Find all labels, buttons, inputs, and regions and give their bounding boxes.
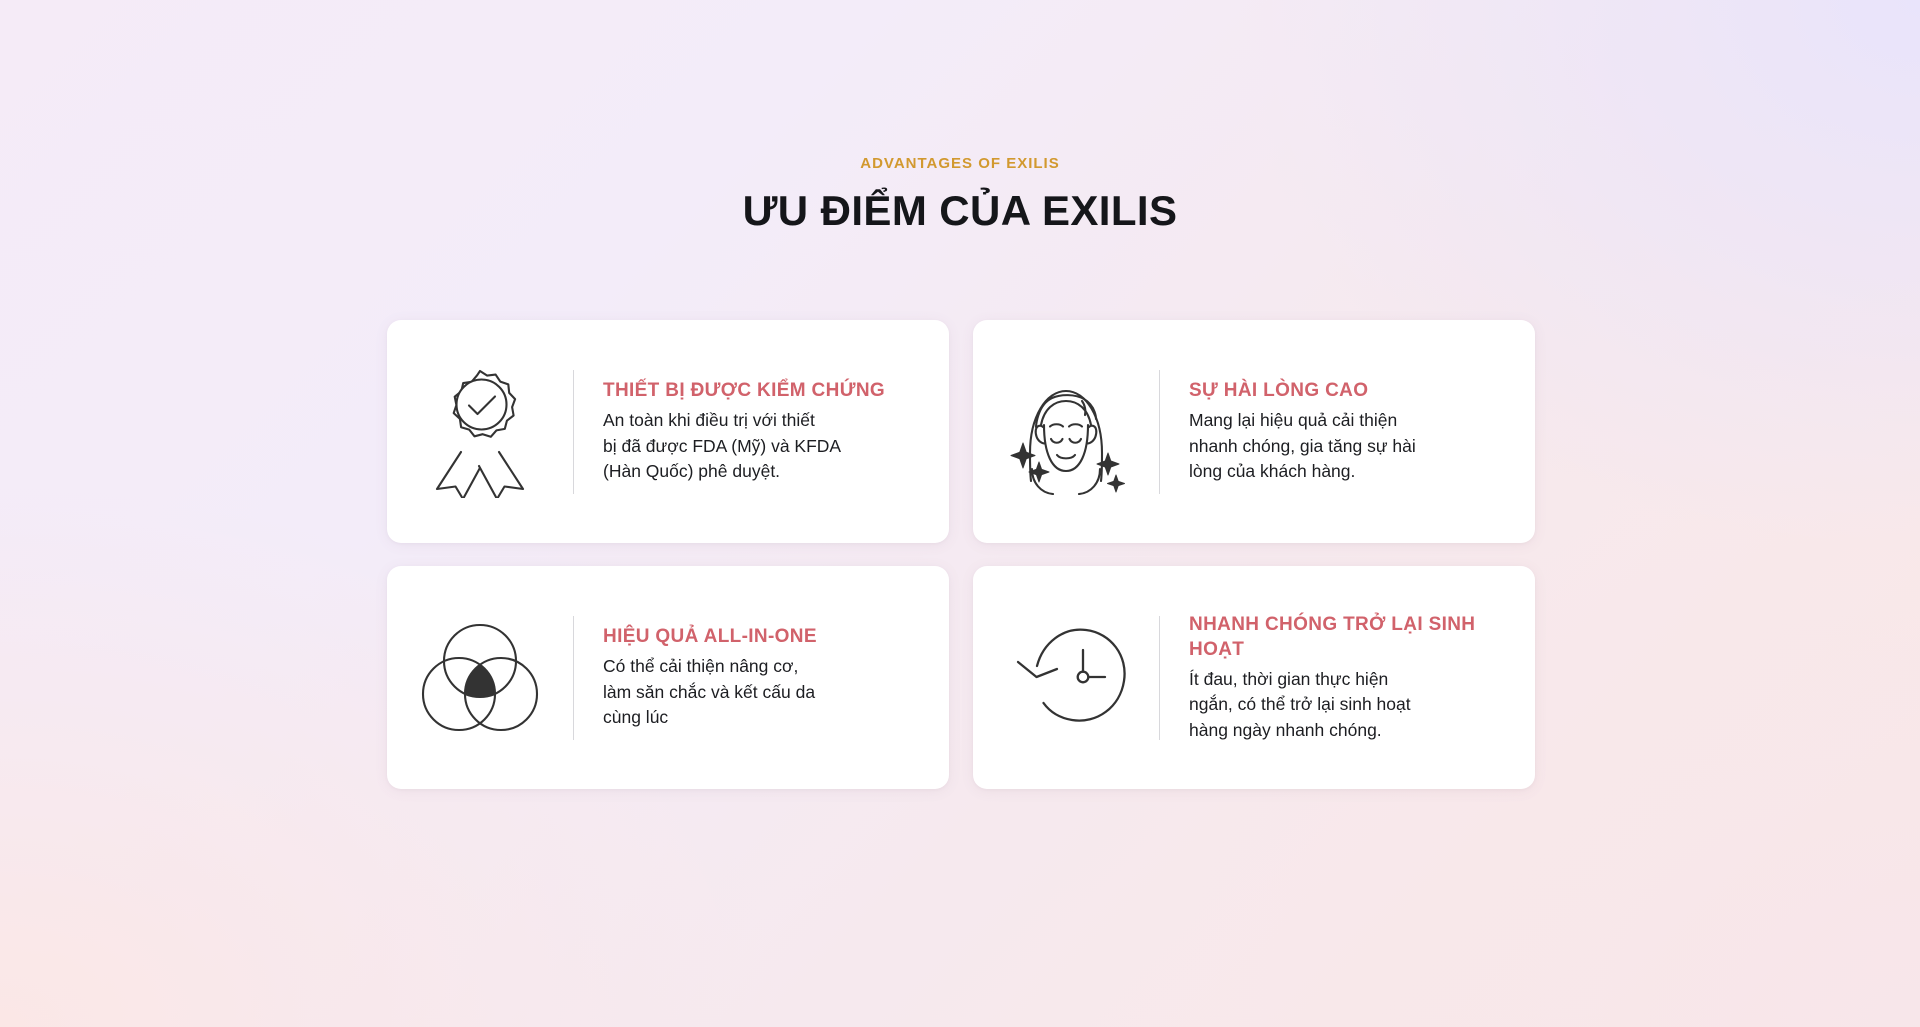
card-text: Ít đau, thời gian thực hiện ngắn, có thể… bbox=[1189, 667, 1519, 744]
advantage-card-quick-recovery[interactable]: NHANH CHÓNG TRỞ LẠI SINH HOẠT Ít đau, th… bbox=[973, 566, 1535, 789]
card-body: SỰ HÀI LÒNG CAO Mang lại hiệu quả cải th… bbox=[1160, 378, 1535, 485]
card-heading: THIẾT BỊ ĐƯỢC KIỂM CHỨNG bbox=[603, 378, 933, 403]
section-eyebrow: ADVANTAGES OF EXILIS bbox=[0, 155, 1920, 173]
card-text: Mang lại hiệu quả cải thiện nhanh chóng,… bbox=[1189, 408, 1519, 485]
award-badge-check-icon bbox=[387, 366, 573, 498]
card-text: An toàn khi điều trị với thiết bị đã đượ… bbox=[603, 408, 933, 485]
advantage-card-verified-device[interactable]: THIẾT BỊ ĐƯỢC KIỂM CHỨNG An toàn khi điề… bbox=[387, 320, 949, 543]
card-heading: NHANH CHÓNG TRỞ LẠI SINH HOẠT bbox=[1189, 612, 1519, 662]
card-heading: HIỆU QUẢ ALL-IN-ONE bbox=[603, 624, 933, 649]
card-text: Có thể cải thiện nâng cơ, làm săn chắc v… bbox=[603, 654, 933, 731]
card-body: THIẾT BỊ ĐƯỢC KIỂM CHỨNG An toàn khi điề… bbox=[574, 378, 949, 485]
card-body: NHANH CHÓNG TRỞ LẠI SINH HOẠT Ít đau, th… bbox=[1160, 612, 1535, 744]
advantages-section: ADVANTAGES OF EXILIS ƯU ĐIỂM CỦA EXILIS … bbox=[0, 0, 1920, 1027]
section-header: ADVANTAGES OF EXILIS ƯU ĐIỂM CỦA EXILIS bbox=[0, 155, 1920, 235]
glowing-face-icon bbox=[973, 369, 1159, 495]
advantages-card-grid: THIẾT BỊ ĐƯỢC KIỂM CHỨNG An toàn khi điề… bbox=[387, 320, 1535, 789]
advantage-card-all-in-one[interactable]: HIỆU QUẢ ALL-IN-ONE Có thể cải thiện nân… bbox=[387, 566, 949, 789]
page-title: ƯU ĐIỂM CỦA EXILIS bbox=[0, 187, 1920, 235]
venn-diagram-icon bbox=[387, 622, 573, 734]
card-body: HIỆU QUẢ ALL-IN-ONE Có thể cải thiện nân… bbox=[574, 624, 949, 731]
clock-rewind-icon bbox=[973, 620, 1159, 736]
advantage-card-high-satisfaction[interactable]: SỰ HÀI LÒNG CAO Mang lại hiệu quả cải th… bbox=[973, 320, 1535, 543]
card-heading: SỰ HÀI LÒNG CAO bbox=[1189, 378, 1519, 403]
